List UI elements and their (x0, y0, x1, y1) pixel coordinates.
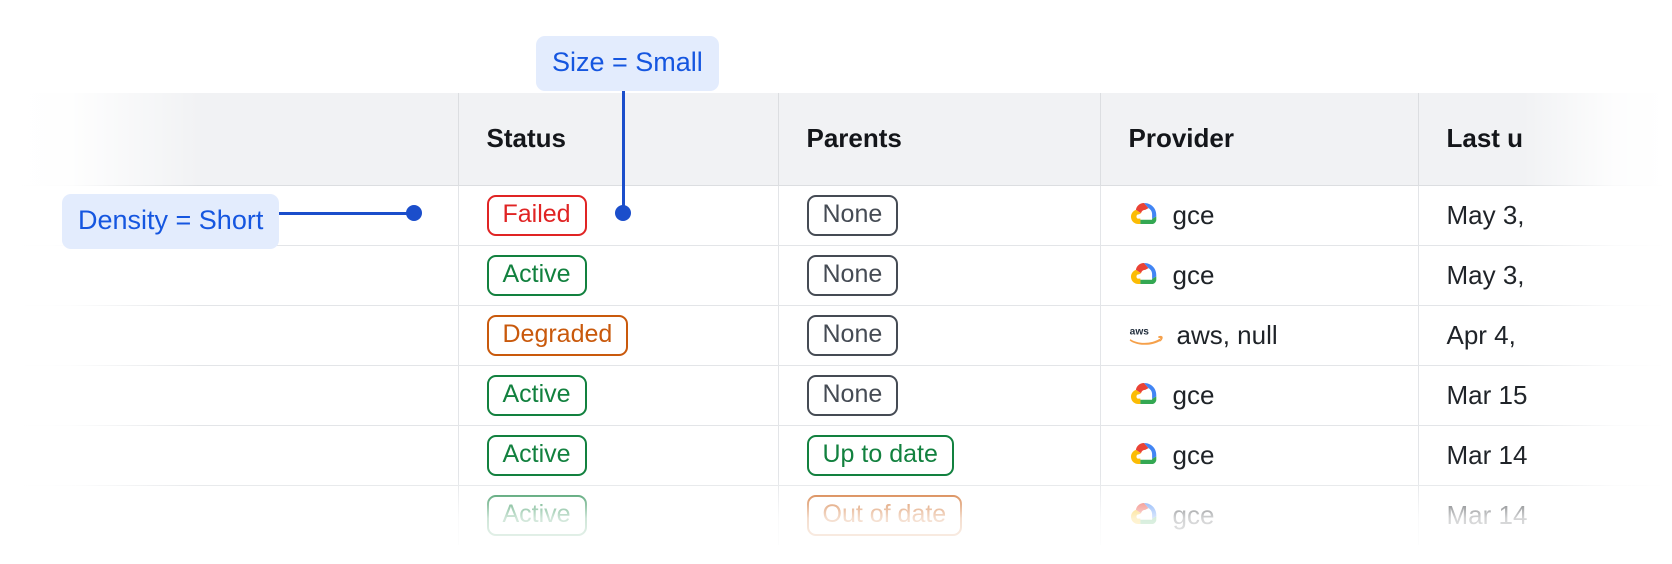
provider-group: gce (1129, 440, 1418, 471)
cell-name (0, 425, 458, 485)
provider-group: awsaws, null (1129, 320, 1418, 351)
parents-badge: None (807, 375, 899, 416)
table-row[interactable]: DegradedNoneawsaws, nullApr 4, (0, 305, 1672, 365)
cell-name (0, 485, 458, 545)
parents-badge: None (807, 195, 899, 236)
cell-parents: None (778, 305, 1100, 365)
provider-label: aws, null (1177, 320, 1278, 351)
cell-parents: Out of date (778, 485, 1100, 545)
column-header-name[interactable]: tion (0, 93, 458, 185)
cell-provider: gce (1100, 485, 1418, 545)
table-header: tion Status Parents Provider Last u (0, 93, 1672, 185)
cell-provider: gce (1100, 365, 1418, 425)
cell-parents: None (778, 365, 1100, 425)
provider-group: gce (1129, 260, 1418, 291)
cell-last-updated: Mar 15 (1418, 365, 1672, 425)
cell-last-updated: May 3, (1418, 245, 1672, 305)
cell-last-updated: Apr 4, (1418, 305, 1672, 365)
density-callout-leader-dot (406, 205, 422, 221)
table-header-row: tion Status Parents Provider Last u (0, 93, 1672, 185)
parents-badge: None (807, 255, 899, 296)
cell-parents: None (778, 245, 1100, 305)
parents-badge: None (807, 315, 899, 356)
cell-status: Active (458, 245, 778, 305)
provider-label: gce (1173, 380, 1215, 411)
cell-last-updated: Mar 14 (1418, 485, 1672, 545)
cell-last-updated: May 3, (1418, 185, 1672, 245)
status-badge: Active (487, 435, 587, 476)
table-row[interactable]: ActiveNonegceMar 15 (0, 365, 1672, 425)
status-badge: Failed (487, 195, 587, 236)
svg-text:aws: aws (1129, 327, 1149, 338)
provider-group: gce (1129, 380, 1418, 411)
status-badge: Active (487, 375, 587, 416)
cell-status: Active (458, 425, 778, 485)
cell-status: Active (458, 485, 778, 545)
cell-status: Active (458, 365, 778, 425)
annotation-size: Size = Small (536, 36, 719, 91)
status-badge: Degraded (487, 315, 629, 356)
parents-badge: Out of date (807, 495, 963, 536)
status-badge: Active (487, 255, 587, 296)
table-row[interactable]: ActiveOut of dategceMar 14 (0, 485, 1672, 545)
cell-name (0, 245, 458, 305)
aws-icon: aws (1129, 323, 1163, 347)
cell-provider: awsaws, null (1100, 305, 1418, 365)
provider-label: gce (1173, 200, 1215, 231)
size-callout-leader-line (622, 74, 625, 212)
gce-icon (1129, 260, 1159, 290)
cell-name (0, 305, 458, 365)
data-table: tion Status Parents Provider Last u Fail… (0, 93, 1672, 545)
column-header-parents[interactable]: Parents (778, 93, 1100, 185)
cell-parents: Up to date (778, 425, 1100, 485)
gce-icon (1129, 440, 1159, 470)
density-callout-leader-line (268, 212, 420, 215)
table-row[interactable]: ActiveNonegceMay 3, (0, 245, 1672, 305)
gce-icon (1129, 200, 1159, 230)
cell-provider: gce (1100, 185, 1418, 245)
cell-provider: gce (1100, 245, 1418, 305)
column-header-last-updated[interactable]: Last u (1418, 93, 1672, 185)
status-badge: Active (487, 495, 587, 536)
cell-last-updated: Mar 14 (1418, 425, 1672, 485)
provider-label: gce (1173, 440, 1215, 471)
provider-group: gce (1129, 200, 1418, 231)
provider-label: gce (1173, 500, 1215, 531)
cell-provider: gce (1100, 425, 1418, 485)
provider-label: gce (1173, 260, 1215, 291)
top-edge-mask (0, 0, 1672, 93)
column-header-provider[interactable]: Provider (1100, 93, 1418, 185)
gce-icon (1129, 500, 1159, 530)
provider-group: gce (1129, 500, 1418, 531)
gce-icon (1129, 380, 1159, 410)
cell-name (0, 365, 458, 425)
parents-badge: Up to date (807, 435, 954, 476)
table-row[interactable]: ActiveUp to dategceMar 14 (0, 425, 1672, 485)
data-table-scroll-region[interactable]: tion Status Parents Provider Last u Fail… (0, 93, 1672, 564)
annotation-density: Density = Short (62, 194, 279, 249)
column-header-status[interactable]: Status (458, 93, 778, 185)
size-callout-leader-dot (615, 205, 631, 221)
cell-status: Degraded (458, 305, 778, 365)
cell-parents: None (778, 185, 1100, 245)
